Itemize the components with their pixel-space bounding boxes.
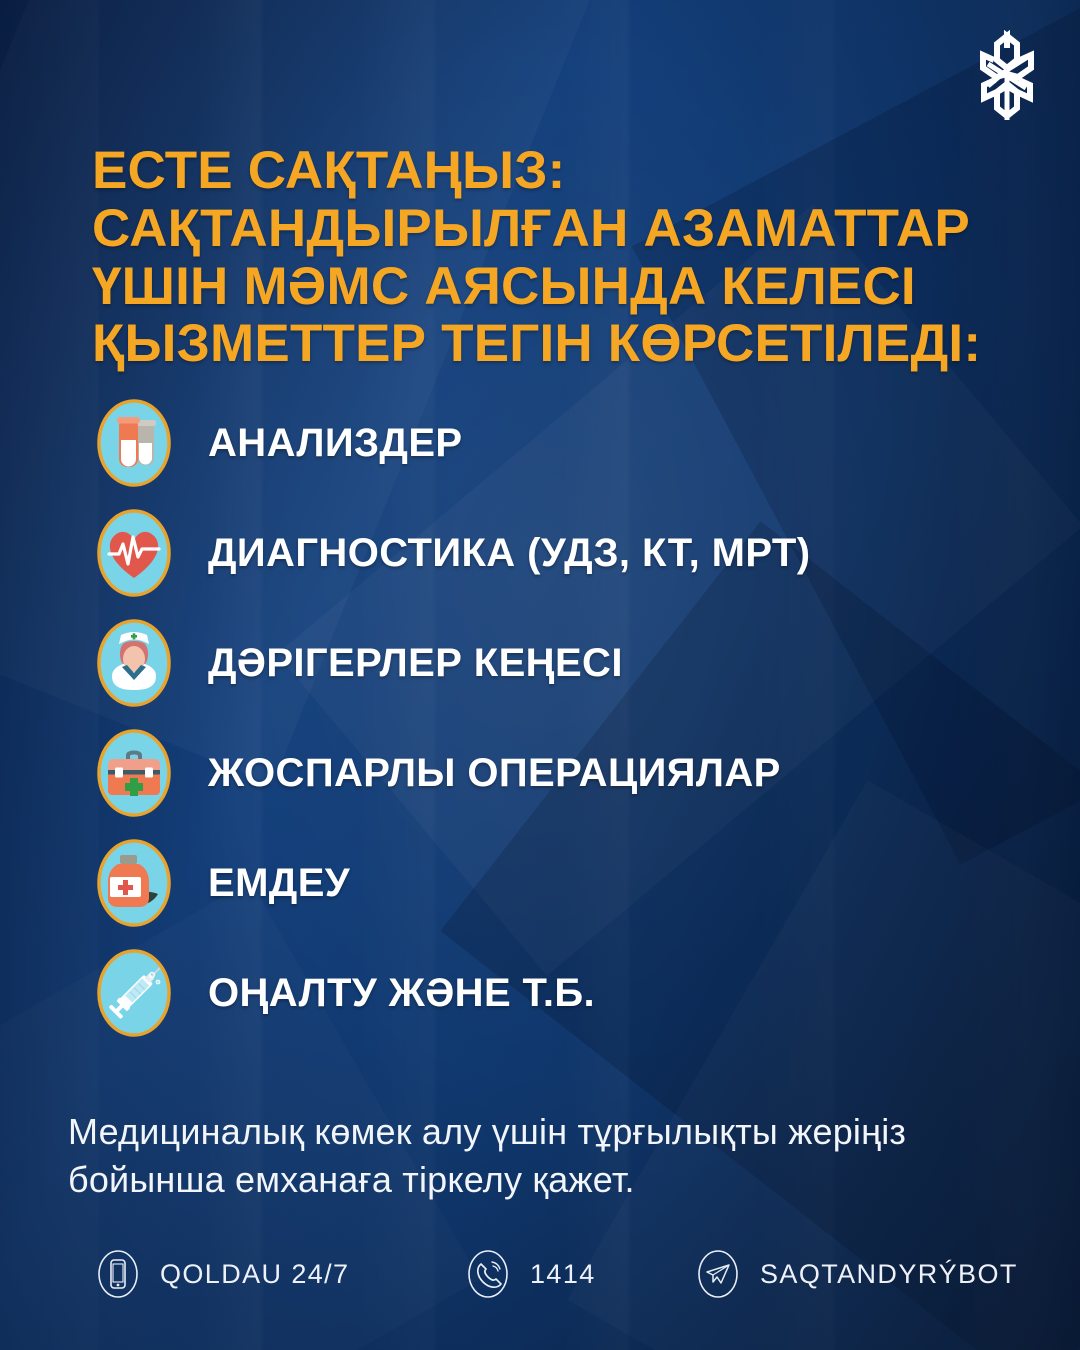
footer-contacts: QOLDAU 24/7 1414 xyxy=(96,1248,1016,1300)
test-tubes-icon xyxy=(96,398,172,488)
telegram-plane-icon xyxy=(696,1248,740,1300)
page-title: ЕСТЕ САҚТАҢЫЗ: САҚТАНДЫРЫЛҒАН АЗАМАТТАР … xyxy=(92,142,992,373)
list-item-label: ОҢАЛТУ ЖӘНЕ Т.Б. xyxy=(208,971,595,1016)
medical-bag-icon xyxy=(96,728,172,818)
contact-label: QOLDAU 24/7 xyxy=(160,1259,349,1290)
contact-hotline[interactable]: 1414 xyxy=(466,1248,696,1300)
list-item-label: ДӘРІГЕРЛЕР КЕҢЕСІ xyxy=(208,641,623,686)
contact-label: SAQTANDYRÝBOT xyxy=(760,1259,1018,1290)
services-list: АНАЛИЗДЕР ДИАГНОСТИКА (УДЗ, КТ, МРТ) xyxy=(96,398,1016,1058)
medicine-bottle-icon xyxy=(96,838,172,928)
list-item-label: ДИАГНОСТИКА (УДЗ, КТ, МРТ) xyxy=(208,531,810,576)
list-item: АНАЛИЗДЕР xyxy=(96,398,1016,488)
footnote-text: Медициналық көмек алу үшін тұрғылықты же… xyxy=(68,1108,1028,1203)
list-item-label: АНАЛИЗДЕР xyxy=(208,421,462,466)
list-item-label: ЕМДЕУ xyxy=(208,861,350,906)
contact-qoldau[interactable]: QOLDAU 24/7 xyxy=(96,1248,466,1300)
footnote-line-2: бойынша емханаға тіркелу қажет. xyxy=(68,1156,1028,1204)
smartphone-icon xyxy=(96,1248,140,1300)
list-item: ОҢАЛТУ ЖӘНЕ Т.Б. xyxy=(96,948,1016,1038)
contact-telegram-bot[interactable]: SAQTANDYRÝBOT xyxy=(696,1248,1016,1300)
ringing-phone-icon xyxy=(466,1248,510,1300)
list-item: ДИАГНОСТИКА (УДЗ, КТ, МРТ) xyxy=(96,508,1016,598)
infographic-poster: ЕСТЕ САҚТАҢЫЗ: САҚТАНДЫРЫЛҒАН АЗАМАТТАР … xyxy=(0,0,1080,1350)
heart-pulse-icon xyxy=(96,508,172,598)
headline-line-2: САҚТАНДЫРЫЛҒАН АЗАМАТТАР xyxy=(92,200,992,258)
list-item: ЕМДЕУ xyxy=(96,838,1016,928)
headline-line-3: ҮШІН МӘМС АЯСЫНДА КЕЛЕСІ xyxy=(92,258,992,316)
contact-label: 1414 xyxy=(530,1259,596,1290)
headline-line-1: ЕСТЕ САҚТАҢЫЗ: xyxy=(92,142,992,200)
list-item: ДӘРІГЕРЛЕР КЕҢЕСІ xyxy=(96,618,1016,708)
shanyraq-hex-flower-logo-icon xyxy=(964,30,1050,122)
headline-line-4: ҚЫЗМЕТТЕР ТЕГІН КӨРСЕТІЛЕДІ: xyxy=(92,315,992,373)
list-item-label: ЖОСПАРЛЫ ОПЕРАЦИЯЛАР xyxy=(208,751,781,796)
syringe-icon xyxy=(96,948,172,1038)
nurse-icon xyxy=(96,618,172,708)
footnote-line-1: Медициналық көмек алу үшін тұрғылықты же… xyxy=(68,1108,1028,1156)
list-item: ЖОСПАРЛЫ ОПЕРАЦИЯЛАР xyxy=(96,728,1016,818)
